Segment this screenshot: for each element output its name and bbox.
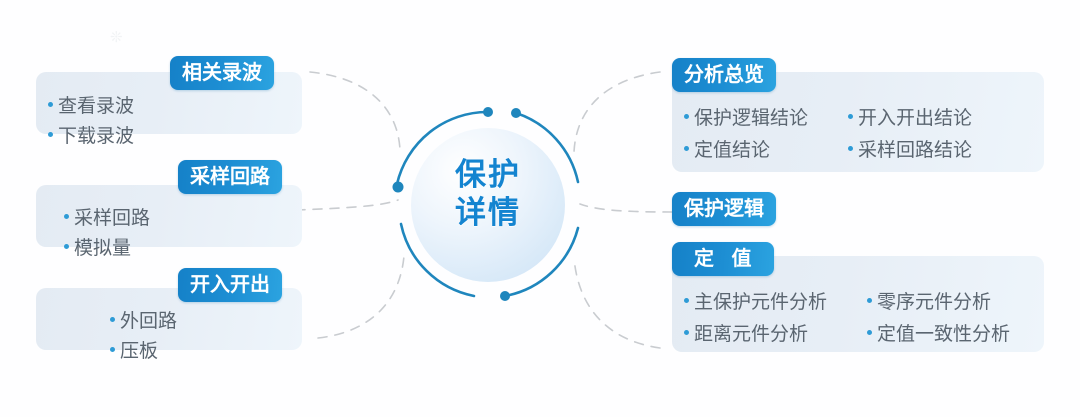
list-item-label: 模拟量 [74,234,131,264]
list-item-label: 距离元件分析 [694,320,808,350]
list-item[interactable]: 采样回路 [64,204,150,234]
list-item-label: 保护逻辑结论 [694,104,808,134]
list-item[interactable]: 外回路 [110,307,177,337]
list-item[interactable]: 定值一致性分析 [867,320,1010,350]
list-item[interactable]: 查看录波 [48,92,134,122]
items-left-2: 采样回路 模拟量 [64,204,176,264]
list-item-label: 定值结论 [694,136,770,166]
list-item[interactable]: 采样回路结论 [848,136,972,166]
list-item[interactable]: 距离元件分析 [684,320,827,350]
list-item[interactable]: 主保护元件分析 [684,288,827,318]
items-right-1: 保护逻辑结论 开入开出结论 定值结论 采样回路结论 [684,104,972,166]
group-title-left-3[interactable]: 开入开出 [178,268,282,302]
connector-left-2 [296,200,398,210]
bullet-icon [684,298,689,303]
bullet-icon [684,146,689,151]
list-item-label: 压板 [120,337,158,367]
group-title-right-1[interactable]: 分析总览 [672,58,776,92]
list-item-label: 零序元件分析 [877,288,991,318]
list-item[interactable]: 下载录波 [48,122,134,152]
items-right-3: 主保护元件分析 零序元件分析 距离元件分析 定值一致性分析 [684,288,1010,350]
bullet-icon [48,102,53,107]
connector-left-1 [310,72,400,150]
decor-speck-icon: ❊ [110,30,123,45]
items-left-1: 查看录波 下载录波 [48,92,160,152]
group-title-left-2[interactable]: 采样回路 [178,160,282,194]
list-item-label: 定值一致性分析 [877,320,1010,350]
items-left-3: 外回路 压板 [110,307,203,367]
list-item[interactable]: 定值结论 [684,136,808,166]
list-item[interactable]: 开入开出结论 [848,104,972,134]
bullet-icon [684,114,689,119]
infographic-canvas: 保护 详情 相关录波 查看录波 下载录波 采样回路 采样回路 [0,0,1080,417]
list-item[interactable]: 模拟量 [64,234,131,264]
bullet-icon [110,347,115,352]
bullet-icon [48,132,53,137]
bullet-icon [684,330,689,335]
bullet-icon [64,214,69,219]
list-item[interactable]: 保护逻辑结论 [684,104,808,134]
bullet-icon [848,146,853,151]
center-title-line2: 详情 [393,194,583,232]
list-item-label: 开入开出结论 [858,104,972,134]
list-item-label: 主保护元件分析 [694,288,827,318]
list-item-label: 查看录波 [58,92,134,122]
connector-right-3 [574,258,660,348]
connector-right-2 [580,204,672,212]
list-item[interactable]: 压板 [110,337,158,367]
center-title: 保护 详情 [393,156,583,232]
list-item-label: 外回路 [120,307,177,337]
bullet-icon [867,298,872,303]
group-title-right-3[interactable]: 定 值 [672,242,774,276]
bullet-icon [848,114,853,119]
bullet-icon [110,317,115,322]
connector-left-3 [318,256,404,338]
list-item-label: 下载录波 [58,122,134,152]
list-item[interactable]: 零序元件分析 [867,288,1010,318]
bullet-icon [64,244,69,249]
group-title-right-2[interactable]: 保护逻辑 [672,192,776,226]
list-item-label: 采样回路 [74,204,150,234]
list-item-label: 采样回路结论 [858,136,972,166]
bullet-icon [867,330,872,335]
group-title-left-1[interactable]: 相关录波 [170,56,274,90]
center-title-line1: 保护 [393,156,583,194]
connector-right-1 [574,72,660,152]
center-node[interactable]: 保护 详情 [393,110,583,300]
